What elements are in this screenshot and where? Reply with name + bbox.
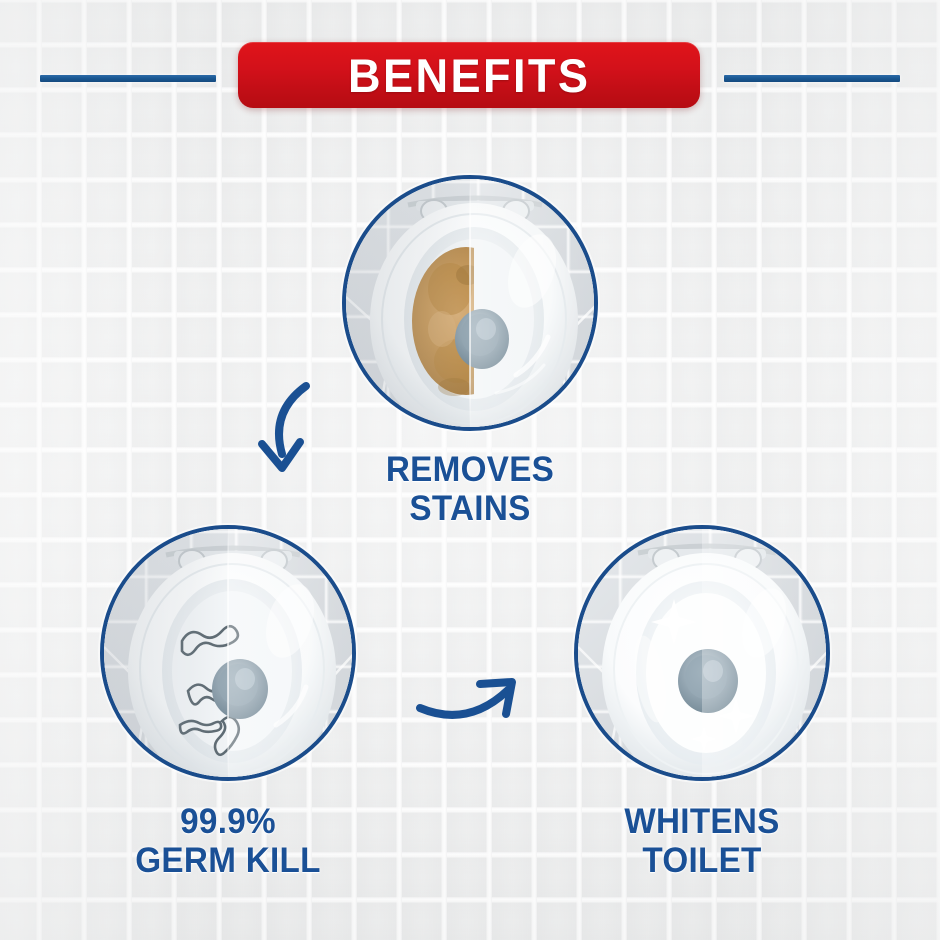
page-title: BENEFITS — [348, 52, 590, 99]
infographic-canvas: BENEFITS — [0, 0, 940, 940]
header-rule-right — [724, 75, 900, 82]
header-rule-left — [40, 75, 216, 82]
toilet-illustration-clean — [578, 529, 830, 781]
toilet-illustration-germs — [104, 529, 356, 781]
benefit-caption-germ-kill: 99.9% GERM KILL — [76, 802, 380, 880]
arrow-stains-to-germs — [240, 372, 350, 482]
benefit-image-removes-stains — [342, 175, 598, 431]
benefit-caption-whitens-toilet: WHITENS TOILET — [550, 802, 854, 880]
arrow-germs-to-whitens — [410, 666, 530, 726]
benefits-banner: BENEFITS — [238, 42, 700, 108]
benefit-image-whitens-toilet — [574, 525, 830, 781]
toilet-illustration-stained — [346, 179, 598, 431]
benefit-image-germ-kill — [100, 525, 356, 781]
benefit-caption-removes-stains: REMOVES STAINS — [318, 450, 622, 528]
